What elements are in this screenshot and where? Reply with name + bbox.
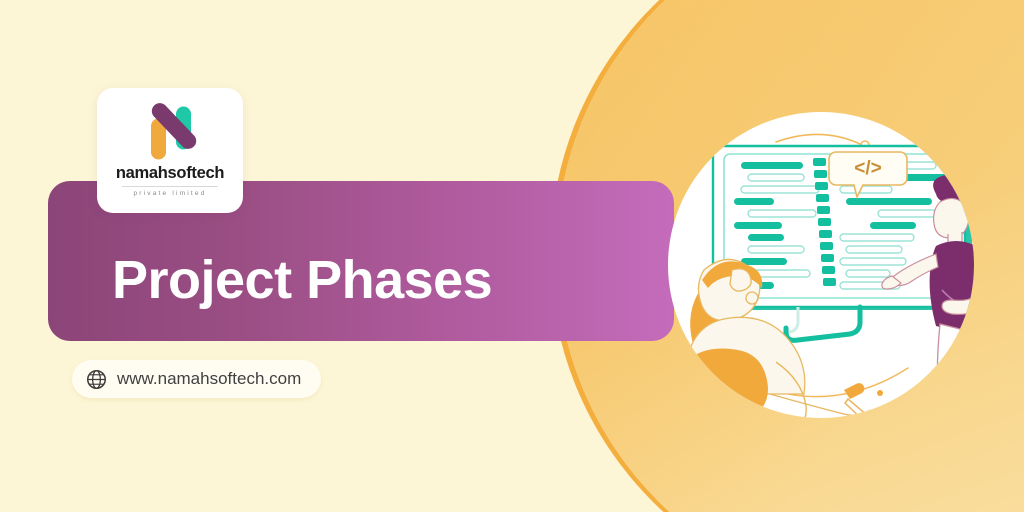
page-title: Project Phases [112,253,492,307]
coding-team-illustration: </> [648,94,994,440]
code-bubble-text: </> [854,158,881,179]
banner-canvas: Project Phases namahsoftech private limi… [0,0,1024,512]
logo-tagline: private limited [122,186,218,197]
illustration-white-circle: </> [668,112,974,418]
website-url-text: www.namahsoftech.com [117,369,301,389]
website-url-pill[interactable]: www.namahsoftech.com [72,360,321,398]
logo-n-monogram-icon [139,102,201,160]
logo-card: namahsoftech private limited [97,88,243,213]
globe-icon [86,369,107,390]
logo-wordmark: namahsoftech [116,164,224,183]
pencil-icon [844,383,883,428]
